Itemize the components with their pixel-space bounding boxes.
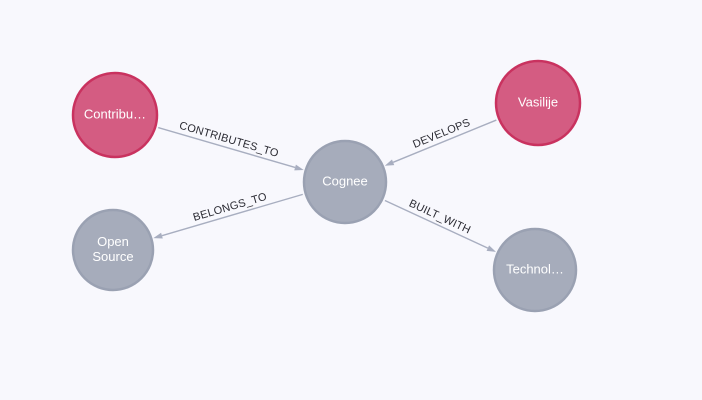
node-contributor-circle[interactable] xyxy=(73,73,157,157)
node-contributor[interactable]: Contribu… xyxy=(73,73,157,157)
edge-contributes-to-label: CONTRIBUTES_TO xyxy=(178,120,280,160)
edge-belongs-to-line xyxy=(162,194,303,235)
edge-contributes-to-line xyxy=(158,128,295,168)
edge-develops[interactable]: DEVELOPS xyxy=(385,117,497,166)
nodes-layer: Contribu…VasilijeCogneeOpenSourceTechnol… xyxy=(73,61,580,311)
edge-built-with-arrowhead xyxy=(487,245,496,252)
edge-develops-arrowhead xyxy=(385,160,394,166)
node-vasilije-circle[interactable] xyxy=(496,61,580,145)
edge-develops-line xyxy=(393,120,496,162)
edge-belongs-to[interactable]: BELONGS_TO xyxy=(153,191,302,239)
node-cognee[interactable]: Cognee xyxy=(304,141,386,223)
node-open-source-circle[interactable] xyxy=(73,210,153,290)
node-vasilije[interactable]: Vasilije xyxy=(496,61,580,145)
knowledge-graph-canvas[interactable]: CONTRIBUTES_TODEVELOPSBELONGS_TOBUILT_WI… xyxy=(0,0,702,400)
edge-built-with-label: BUILT_WITH xyxy=(407,198,472,237)
edge-belongs-to-arrowhead xyxy=(153,233,162,239)
node-open-source[interactable]: OpenSource xyxy=(73,210,153,290)
node-technology-circle[interactable] xyxy=(494,229,576,311)
node-cognee-circle[interactable] xyxy=(304,141,386,223)
edge-built-with[interactable]: BUILT_WITH xyxy=(385,198,496,252)
node-technology[interactable]: Technol… xyxy=(494,229,576,311)
edge-built-with-line xyxy=(385,200,488,248)
edge-contributes-to-arrowhead xyxy=(294,165,303,171)
edge-contributes-to[interactable]: CONTRIBUTES_TO xyxy=(158,120,304,171)
